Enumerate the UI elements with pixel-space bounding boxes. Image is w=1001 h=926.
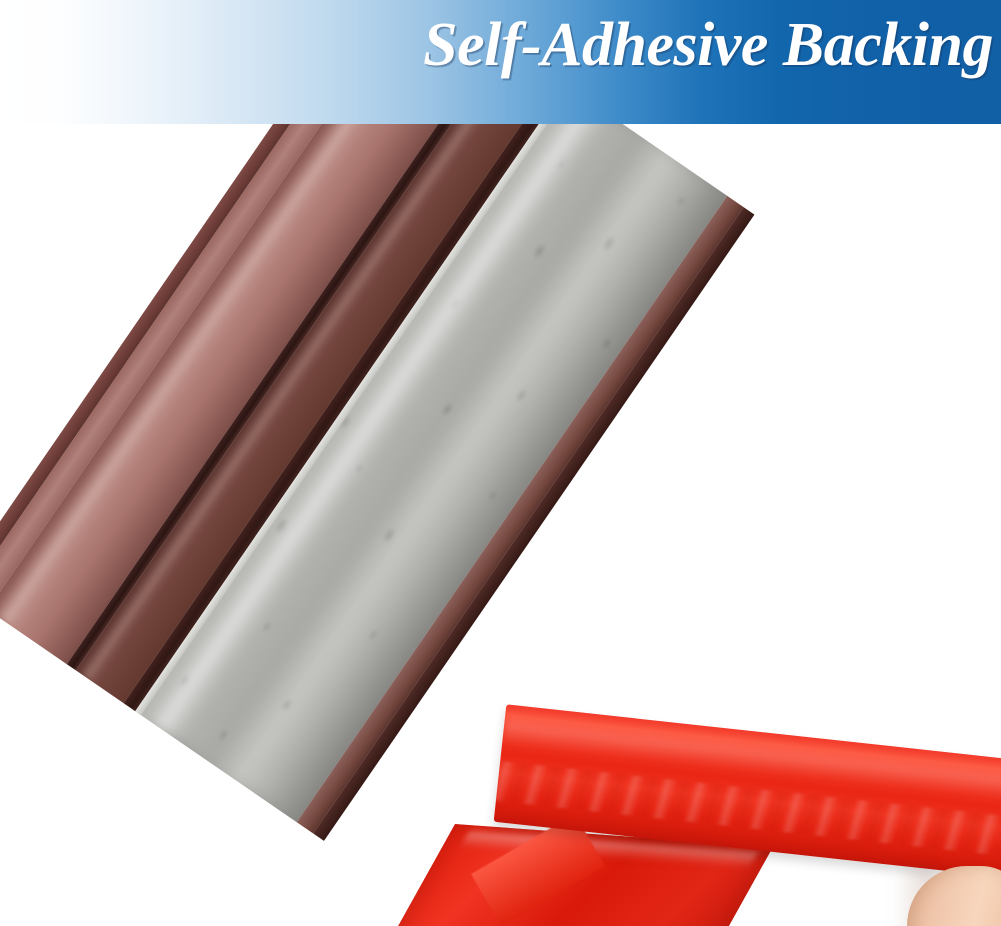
header-banner: Self-Adhesive Backing xyxy=(0,0,1001,124)
banner-title: Self-Adhesive Backing xyxy=(423,14,993,76)
product-feature-image: Self-Adhesive Backing The flexible floor… xyxy=(0,0,1001,926)
product-photo xyxy=(0,124,1001,926)
